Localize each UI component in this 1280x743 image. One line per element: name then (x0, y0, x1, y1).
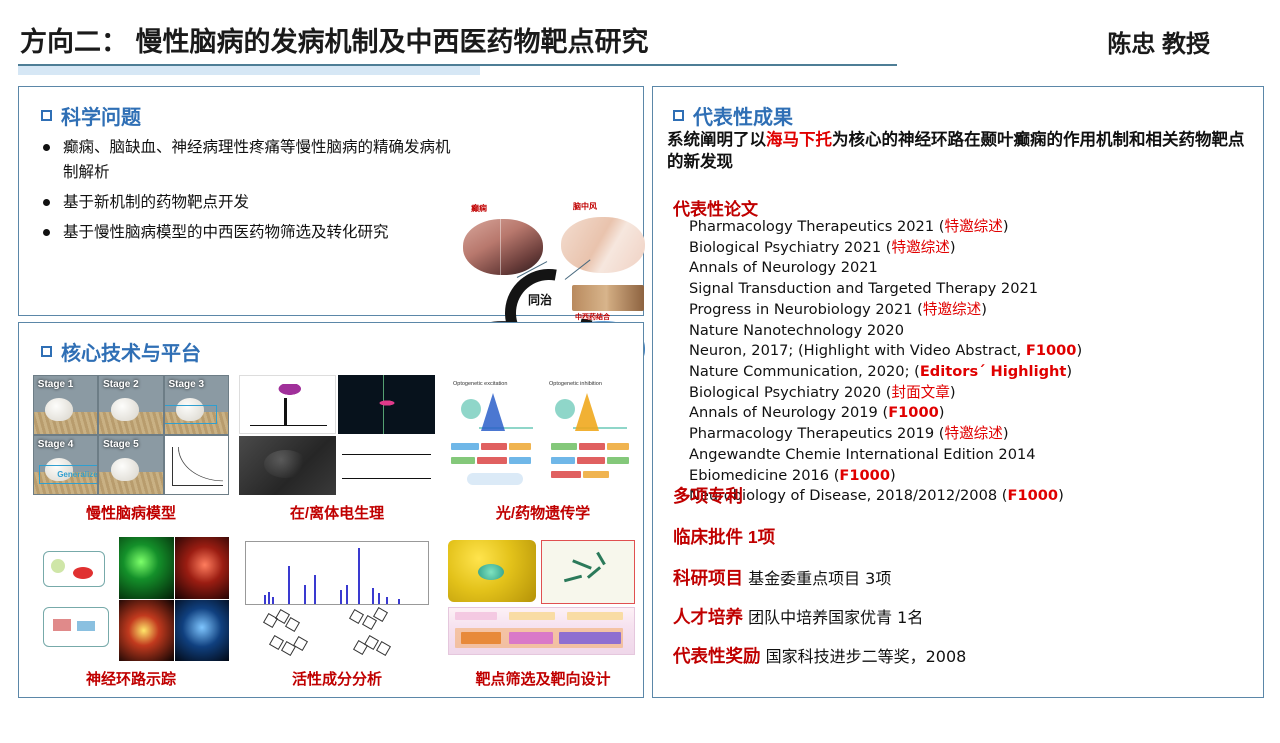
highlight-value: 国家科技进步二等奖，2008 (761, 647, 967, 666)
paper-list-item: Annals of Neurology 2021 (689, 258, 1249, 279)
list-item: 基于慢性脑病模型的中西医药物筛选及转化研究 (33, 220, 453, 245)
circuit-tracing-image (33, 537, 229, 661)
neuron-icon (555, 399, 575, 419)
technology-row-bottom: 神经环路示踪 (33, 537, 641, 689)
list-item-label: 癫痫、脑缺血、神经病理性疼痛等慢性脑病的精确发病机制解析 (63, 135, 453, 185)
square-bullet-icon (41, 346, 52, 357)
circuit-schematic (33, 537, 119, 661)
representative-results-heading-label: 代表性成果 (693, 101, 793, 130)
highlight-row: 科研项目 基金委重点项目 3项 (673, 565, 1033, 590)
representative-papers-list: Pharmacology Therapeutics 2021 (特邀综述)Bio… (689, 217, 1249, 507)
tech-cell-caption: 靶点筛选及靶向设计 (445, 668, 641, 689)
fluorescence-tile (119, 537, 173, 599)
fluorescence-montage (119, 537, 229, 661)
title-accent-bar (18, 66, 480, 75)
diagram-label-stroke: 脑中风 (573, 201, 597, 212)
paper-list-item: Signal Transduction and Targeted Therapy… (689, 279, 1249, 300)
paper-list-item: Pharmacology Therapeutics 2021 (特邀综述) (689, 217, 1249, 238)
paper-title: Pharmacology Therapeutics 2021 ( (689, 218, 944, 235)
patch-clamp-trace (338, 375, 435, 434)
blue-light-cone (481, 393, 505, 431)
representative-results-panel: 代表性成果 系统阐明了以海马下托为核心的神经环路在颞叶癫痫的作用机制和相关药物靶… (652, 86, 1264, 698)
binding-site-zoom (541, 540, 635, 604)
paper-note-badge: 特邀综述 (944, 218, 1002, 235)
molecule-structure (351, 609, 385, 635)
molecule-structure (265, 611, 299, 637)
paper-title: Pharmacology Therapeutics 2019 ( (689, 425, 944, 442)
optogenetic-excitation-label: Optogenetic excitation (453, 381, 507, 387)
bullet-dot-icon (43, 144, 50, 151)
paper-title: Signal Transduction and Targeted Therapy… (689, 280, 1038, 297)
highlight-key: 科研项目 (673, 568, 743, 588)
highlight-row: 多项专利 (673, 483, 1033, 508)
tech-cell-caption: 神经环路示踪 (33, 668, 229, 689)
science-question-bullet-list: 癫痫、脑缺血、神经病理性疼痛等慢性脑病的精确发病机制解析 基于新机制的药物靶点开… (33, 135, 453, 250)
bullet-dot-icon (43, 199, 50, 206)
bullet-dot-icon (43, 229, 50, 236)
paper-list-item: Nature Nanotechnology 2020 (689, 321, 1249, 342)
paper-note-badge: 封面文章 (891, 384, 949, 401)
paper-note-badge: F1000 (1026, 342, 1077, 359)
achievements-highlights-list: 多项专利临床批件 1项科研项目 基金委重点项目 3项人才培养 团队中培养国家优青… (673, 483, 1033, 682)
highlight-value: 团队中培养国家优青 1名 (743, 608, 923, 627)
spike-raster-plot (239, 375, 336, 434)
stage-label: Stage 4 (38, 439, 74, 450)
tech-cell-electrophysiology: 在/离体电生理 (239, 375, 435, 523)
science-question-panel: 科学问题 癫痫、脑缺血、神经病理性疼痛等慢性脑病的精确发病机制解析 基于新机制的… (18, 86, 644, 316)
stage-label: Stage 5 (103, 439, 139, 450)
paper-note-tail: ) (890, 467, 896, 484)
paper-note-tail: ) (1003, 218, 1009, 235)
stage-photo: Stage 2 (98, 375, 163, 435)
paper-note-badge: Editors´ Highlight (920, 363, 1067, 380)
stage-label: Stage 3 (168, 379, 204, 390)
tech-cell-caption: 在/离体电生理 (239, 502, 435, 523)
presenter-name: 陈忠 教授 (1107, 24, 1210, 59)
paper-list-item: Neuron, 2017; (Highlight with Video Abst… (689, 341, 1249, 362)
stage-label: Stage 1 (38, 379, 74, 390)
paper-list-item: Annals of Neurology 2019 (F1000) (689, 403, 1249, 424)
highlight-value: 基金委重点项目 3项 (743, 569, 891, 588)
yellow-light-cone (575, 393, 599, 431)
generalized-seizure-annotation: Generalized seizure (39, 470, 98, 479)
highlight-key: 临床批件 1项 (673, 527, 775, 547)
paper-title: Ebiomedicine 2016 ( (689, 467, 839, 484)
paper-list-item: Pharmacology Therapeutics 2019 (特邀综述) (689, 424, 1249, 445)
page-title: 方向二： 慢性脑病的发病机制及中西医药物靶点研究 (20, 20, 649, 59)
highlight-row: 临床批件 1项 (673, 524, 1033, 549)
paper-note-badge: 特邀综述 (891, 239, 949, 256)
paper-note-badge: 特邀综述 (923, 301, 981, 318)
highlight-key: 代表性奖励 (673, 646, 761, 666)
paper-note-badge: 特邀综述 (944, 425, 1002, 442)
paper-list-item: Nature Communication, 2020; (Editors´ Hi… (689, 362, 1249, 383)
paper-list-item: Angewandte Chemie International Edition … (689, 445, 1249, 466)
stage-photo: Stage 4 Generalized seizure (33, 435, 98, 495)
paper-title: Annals of Neurology 2019 ( (689, 404, 888, 421)
paper-list-item: Biological Psychiatry 2020 (封面文章) (689, 383, 1249, 404)
square-bullet-icon (673, 110, 684, 121)
paper-note-tail: ) (950, 239, 956, 256)
paper-title: Nature Nanotechnology 2020 (689, 322, 904, 339)
stage-label: Stage 2 (103, 379, 139, 390)
stage-photo: Stage 1 (33, 375, 98, 435)
paper-title: Biological Psychiatry 2020 ( (689, 384, 891, 401)
representative-results-heading: 代表性成果 (673, 101, 793, 130)
stage-photo: Stage 3 Focal seizure (164, 375, 229, 435)
tech-cell-target-screening: 靶点筛选及靶向设计 (445, 537, 641, 689)
molecule-structure (271, 637, 305, 661)
paper-title: Biological Psychiatry 2021 ( (689, 239, 891, 256)
seizure-stage-curve-plot (164, 435, 229, 495)
electrophysiology-image (239, 375, 435, 495)
hplc-chromatogram (239, 537, 435, 661)
core-technology-heading: 核心技术与平台 (41, 337, 201, 366)
field-potential-trace (338, 436, 435, 495)
tech-cell-optogenetics: Optogenetic excitation Optogenetic inhib… (445, 375, 641, 523)
summary-highlight: 海马下托 (766, 130, 832, 149)
core-technology-panel: 核心技术与平台 Stage 1 Stage 2 Stage 3 (18, 322, 644, 698)
active-component-analysis-image (239, 537, 435, 661)
highlight-key: 人才培养 (673, 607, 743, 627)
paper-note-tail: ) (950, 384, 956, 401)
science-question-heading: 科学问题 (41, 101, 141, 130)
fluorescence-tile (119, 600, 173, 662)
tech-cell-active-component-analysis: 活性成分分析 (239, 537, 435, 689)
tech-cell-caption: 光/药物遗传学 (445, 502, 641, 523)
optogenetics-image: Optogenetic excitation Optogenetic inhib… (445, 375, 641, 495)
paper-list-item: Biological Psychiatry 2021 (特邀综述) (689, 238, 1249, 259)
paper-note-tail: ) (1058, 487, 1064, 504)
target-design-workflow (448, 607, 635, 655)
paper-note-badge: F1000 (888, 404, 939, 421)
fluorescence-tile (175, 600, 229, 662)
fluorescence-tile (175, 537, 229, 599)
tech-cell-circuit-tracing: 神经环路示踪 (33, 537, 229, 689)
target-screening-image (445, 537, 641, 661)
optogenetic-inhibition-label: Optogenetic inhibition (549, 381, 602, 387)
square-bullet-icon (41, 110, 52, 121)
highlight-row: 代表性奖励 国家科技进步二等奖，2008 (673, 643, 1033, 668)
list-item: 基于新机制的药物靶点开发 (33, 190, 453, 215)
focal-seizure-annotation: Focal seizure (164, 410, 216, 419)
viral-construct-diagram (451, 441, 635, 489)
paper-title: Progress in Neurobiology 2021 ( (689, 301, 923, 318)
science-question-heading-label: 科学问题 (61, 101, 141, 130)
chronic-brain-disease-model-image: Stage 1 Stage 2 Stage 3 Focal seizure (33, 375, 229, 495)
highlight-key: 多项专利 (673, 486, 743, 506)
diagram-center-label: 同治 (513, 291, 567, 308)
paper-note-tail: ) (981, 301, 987, 318)
paper-note-tail: ) (1003, 425, 1009, 442)
results-summary-text: 系统阐明了以海马下托为核心的神经环路在颞叶癫痫的作用机制和相关药物靶点的新发现 (667, 129, 1253, 174)
paper-title: Annals of Neurology 2021 (689, 259, 878, 276)
paper-title: Neuron, 2017; (Highlight with Video Abst… (689, 342, 1026, 359)
stage-photo: Stage 5 (98, 435, 163, 495)
neuron-icon (461, 399, 481, 419)
diagram-label-epilepsy: 癫痫 (471, 203, 487, 214)
dic-slice-photo (239, 436, 336, 495)
stroke-face-photo (561, 217, 645, 273)
paper-note-badge: F1000 (839, 467, 890, 484)
paper-title: Angewandte Chemie International Edition … (689, 446, 1036, 463)
tech-cell-chronic-brain-disease-model: Stage 1 Stage 2 Stage 3 Focal seizure (33, 375, 229, 523)
paper-list-item: Progress in Neurobiology 2021 (特邀综述) (689, 300, 1249, 321)
highlight-row: 人才培养 团队中培养国家优青 1名 (673, 604, 1033, 629)
tech-cell-caption: 活性成分分析 (239, 668, 435, 689)
list-item-label: 基于新机制的药物靶点开发 (63, 190, 249, 215)
list-item-label: 基于慢性脑病模型的中西医药物筛选及转化研究 (63, 220, 389, 245)
paper-note-tail: ) (1076, 342, 1082, 359)
slide-header: 方向二： 慢性脑病的发病机制及中西医药物靶点研究 陈忠 教授 (0, 0, 1280, 78)
molecule-structure (355, 637, 389, 661)
list-item: 癫痫、脑缺血、神经病理性疼痛等慢性脑病的精确发病机制解析 (33, 135, 453, 185)
technology-row-top: Stage 1 Stage 2 Stage 3 Focal seizure (33, 375, 641, 523)
core-technology-heading-label: 核心技术与平台 (61, 337, 201, 366)
protein-surface-render (448, 540, 536, 602)
tech-cell-caption: 慢性脑病模型 (33, 502, 229, 523)
paper-note-tail: ) (1066, 363, 1072, 380)
paper-title: Nature Communication, 2020; ( (689, 363, 920, 380)
summary-prefix: 系统阐明了以 (667, 130, 766, 149)
paper-note-tail: ) (939, 404, 945, 421)
epilepsy-brain-photo (463, 219, 543, 275)
